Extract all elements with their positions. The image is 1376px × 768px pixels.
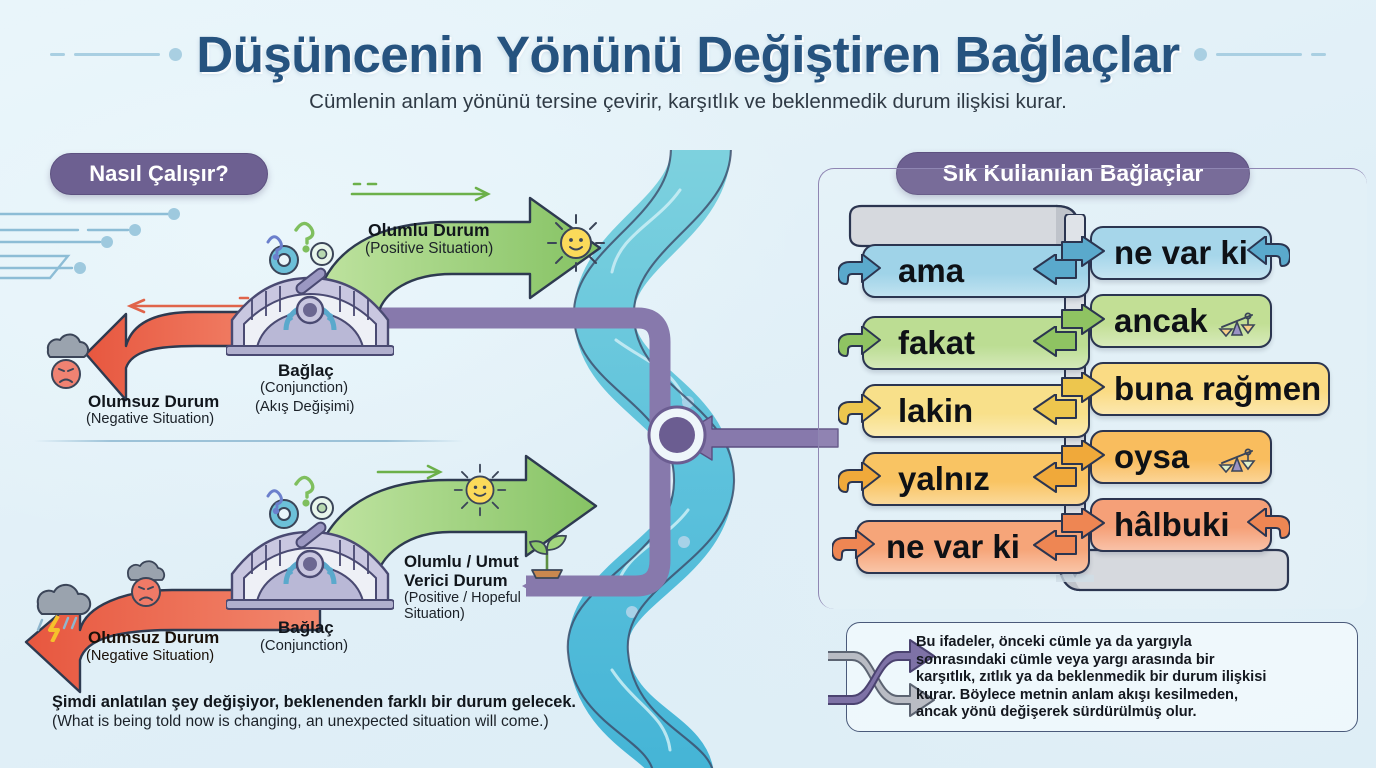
gear-question-icons-bottom xyxy=(244,462,364,532)
spine-arrow-oysa xyxy=(1058,440,1108,476)
conjunction-label-top: Bağlaç xyxy=(278,361,334,381)
conjunction-sublabel2-top: (Akış Değişimi) xyxy=(255,399,354,415)
angry-face-icon-bottom xyxy=(122,560,174,612)
page-title-row: Düşüncenin Yönünü Değiştiren Bağlaçlar xyxy=(0,16,1376,92)
explanation-line-5: ancak yönü değişerek sürdürülmüş olur. xyxy=(916,704,1352,722)
hook-arrow-yalniz xyxy=(838,462,882,498)
conjunction-label: yalnız xyxy=(864,460,990,498)
title-decoration-left xyxy=(50,48,182,61)
conjunction-pill-oysa[interactable]: oysa xyxy=(1090,430,1272,484)
page-title: Düşüncenin Yönünü Değiştiren Bağlaçlar xyxy=(196,25,1179,84)
conjunction-sublabel1-top: (Conjunction) xyxy=(260,380,348,396)
conjunction-label-bottom: Bağlaç xyxy=(278,618,334,638)
conjunction-label: hâlbuki xyxy=(1092,506,1230,544)
explanation-line-2: sonrasındaki cümle veya yargı arasında b… xyxy=(916,652,1352,670)
bottom-caption-english: (What is being told now is changing, an … xyxy=(52,712,612,732)
positive-label-bottom-2: Verici Durum xyxy=(404,571,508,591)
sprout-icon xyxy=(524,528,570,580)
positive-label-bottom-1: Olumlu / Umut xyxy=(404,552,519,572)
negative-label-bottom: Olumsuz Durum xyxy=(88,628,219,648)
conjunction-label: ancak xyxy=(1092,302,1208,340)
scale-icon xyxy=(1218,305,1256,337)
bottom-caption-turkish: Şimdi anlatılan şey değişiyor, beklenend… xyxy=(52,692,592,712)
sun-smile-icon-top xyxy=(545,212,607,274)
cloud-angry-face-icon-top xyxy=(36,330,96,392)
section-badge-how-it-works: Nasıl Çalışır? xyxy=(50,153,268,195)
positive-sublabel-bottom-1: (Positive / Hopeful xyxy=(404,590,521,606)
conjunction-label: buna rağmen xyxy=(1092,370,1321,408)
conjunction-pill-buna-ragmen[interactable]: buna rağmen xyxy=(1090,362,1330,416)
positive-sublabel-top: (Positive Situation) xyxy=(365,240,493,258)
negative-label-top: Olumsuz Durum xyxy=(88,392,219,412)
hook-arrow-lakin xyxy=(838,394,882,430)
gear-question-icons-top xyxy=(244,208,364,278)
infographic-canvas: Düşüncenin Yönünü Değiştiren Bağlaçlar C… xyxy=(0,0,1376,768)
page-subtitle: Cümlenin anlam yönünü tersine çevirir, k… xyxy=(0,90,1376,114)
spine-arrow-halbuki xyxy=(1058,508,1108,544)
conjunction-sublabel-bottom: (Conjunction) xyxy=(260,638,348,654)
hook-arrow-ama xyxy=(838,254,882,290)
title-decoration-right xyxy=(1194,48,1326,61)
sun-smile-icon-bottom xyxy=(452,462,508,518)
scale-icon xyxy=(1218,441,1256,473)
storm-cloud-icon xyxy=(28,570,102,642)
spine-arrow-ne-var-ki-right xyxy=(1058,236,1108,272)
hook-arrow-ne-var-ki-left xyxy=(832,530,876,566)
hook-arrow-halbuki xyxy=(1244,508,1290,544)
explanation-line-1: Bu ifadeler, önceki cümle ya da yargıyla xyxy=(916,634,1352,652)
explanation-line-3: karşıtlık, zıtlık ya da beklenmedik bir … xyxy=(916,669,1352,687)
conjunction-label: ne var ki xyxy=(858,528,1020,566)
explanation-text: Bu ifadeler, önceki cümle ya da yargıyla… xyxy=(916,634,1352,722)
positive-motion-lines-top xyxy=(348,176,518,202)
spine-arrow-buna-ragmen xyxy=(1058,372,1108,408)
explanation-line-4: kurar. Böylece metnin anlam akışı kesilm… xyxy=(916,687,1352,705)
hook-arrow-ne-var-ki-right xyxy=(1244,236,1290,272)
negative-sublabel-bottom: (Negative Situation) xyxy=(86,648,214,664)
conjunction-pill-ancak[interactable]: ancak xyxy=(1090,294,1272,348)
positive-label-top: Olumlu Durum xyxy=(368,220,490,241)
hook-arrow-fakat xyxy=(838,326,882,362)
spine-arrow-ancak xyxy=(1058,304,1108,340)
positive-sublabel-bottom-2: Situation) xyxy=(404,606,465,622)
conjunction-label: ne var ki xyxy=(1092,234,1248,272)
flow-hub-node xyxy=(642,400,712,470)
negative-sublabel-top: (Negative Situation) xyxy=(86,411,214,427)
positive-motion-lines-bottom xyxy=(374,462,464,482)
